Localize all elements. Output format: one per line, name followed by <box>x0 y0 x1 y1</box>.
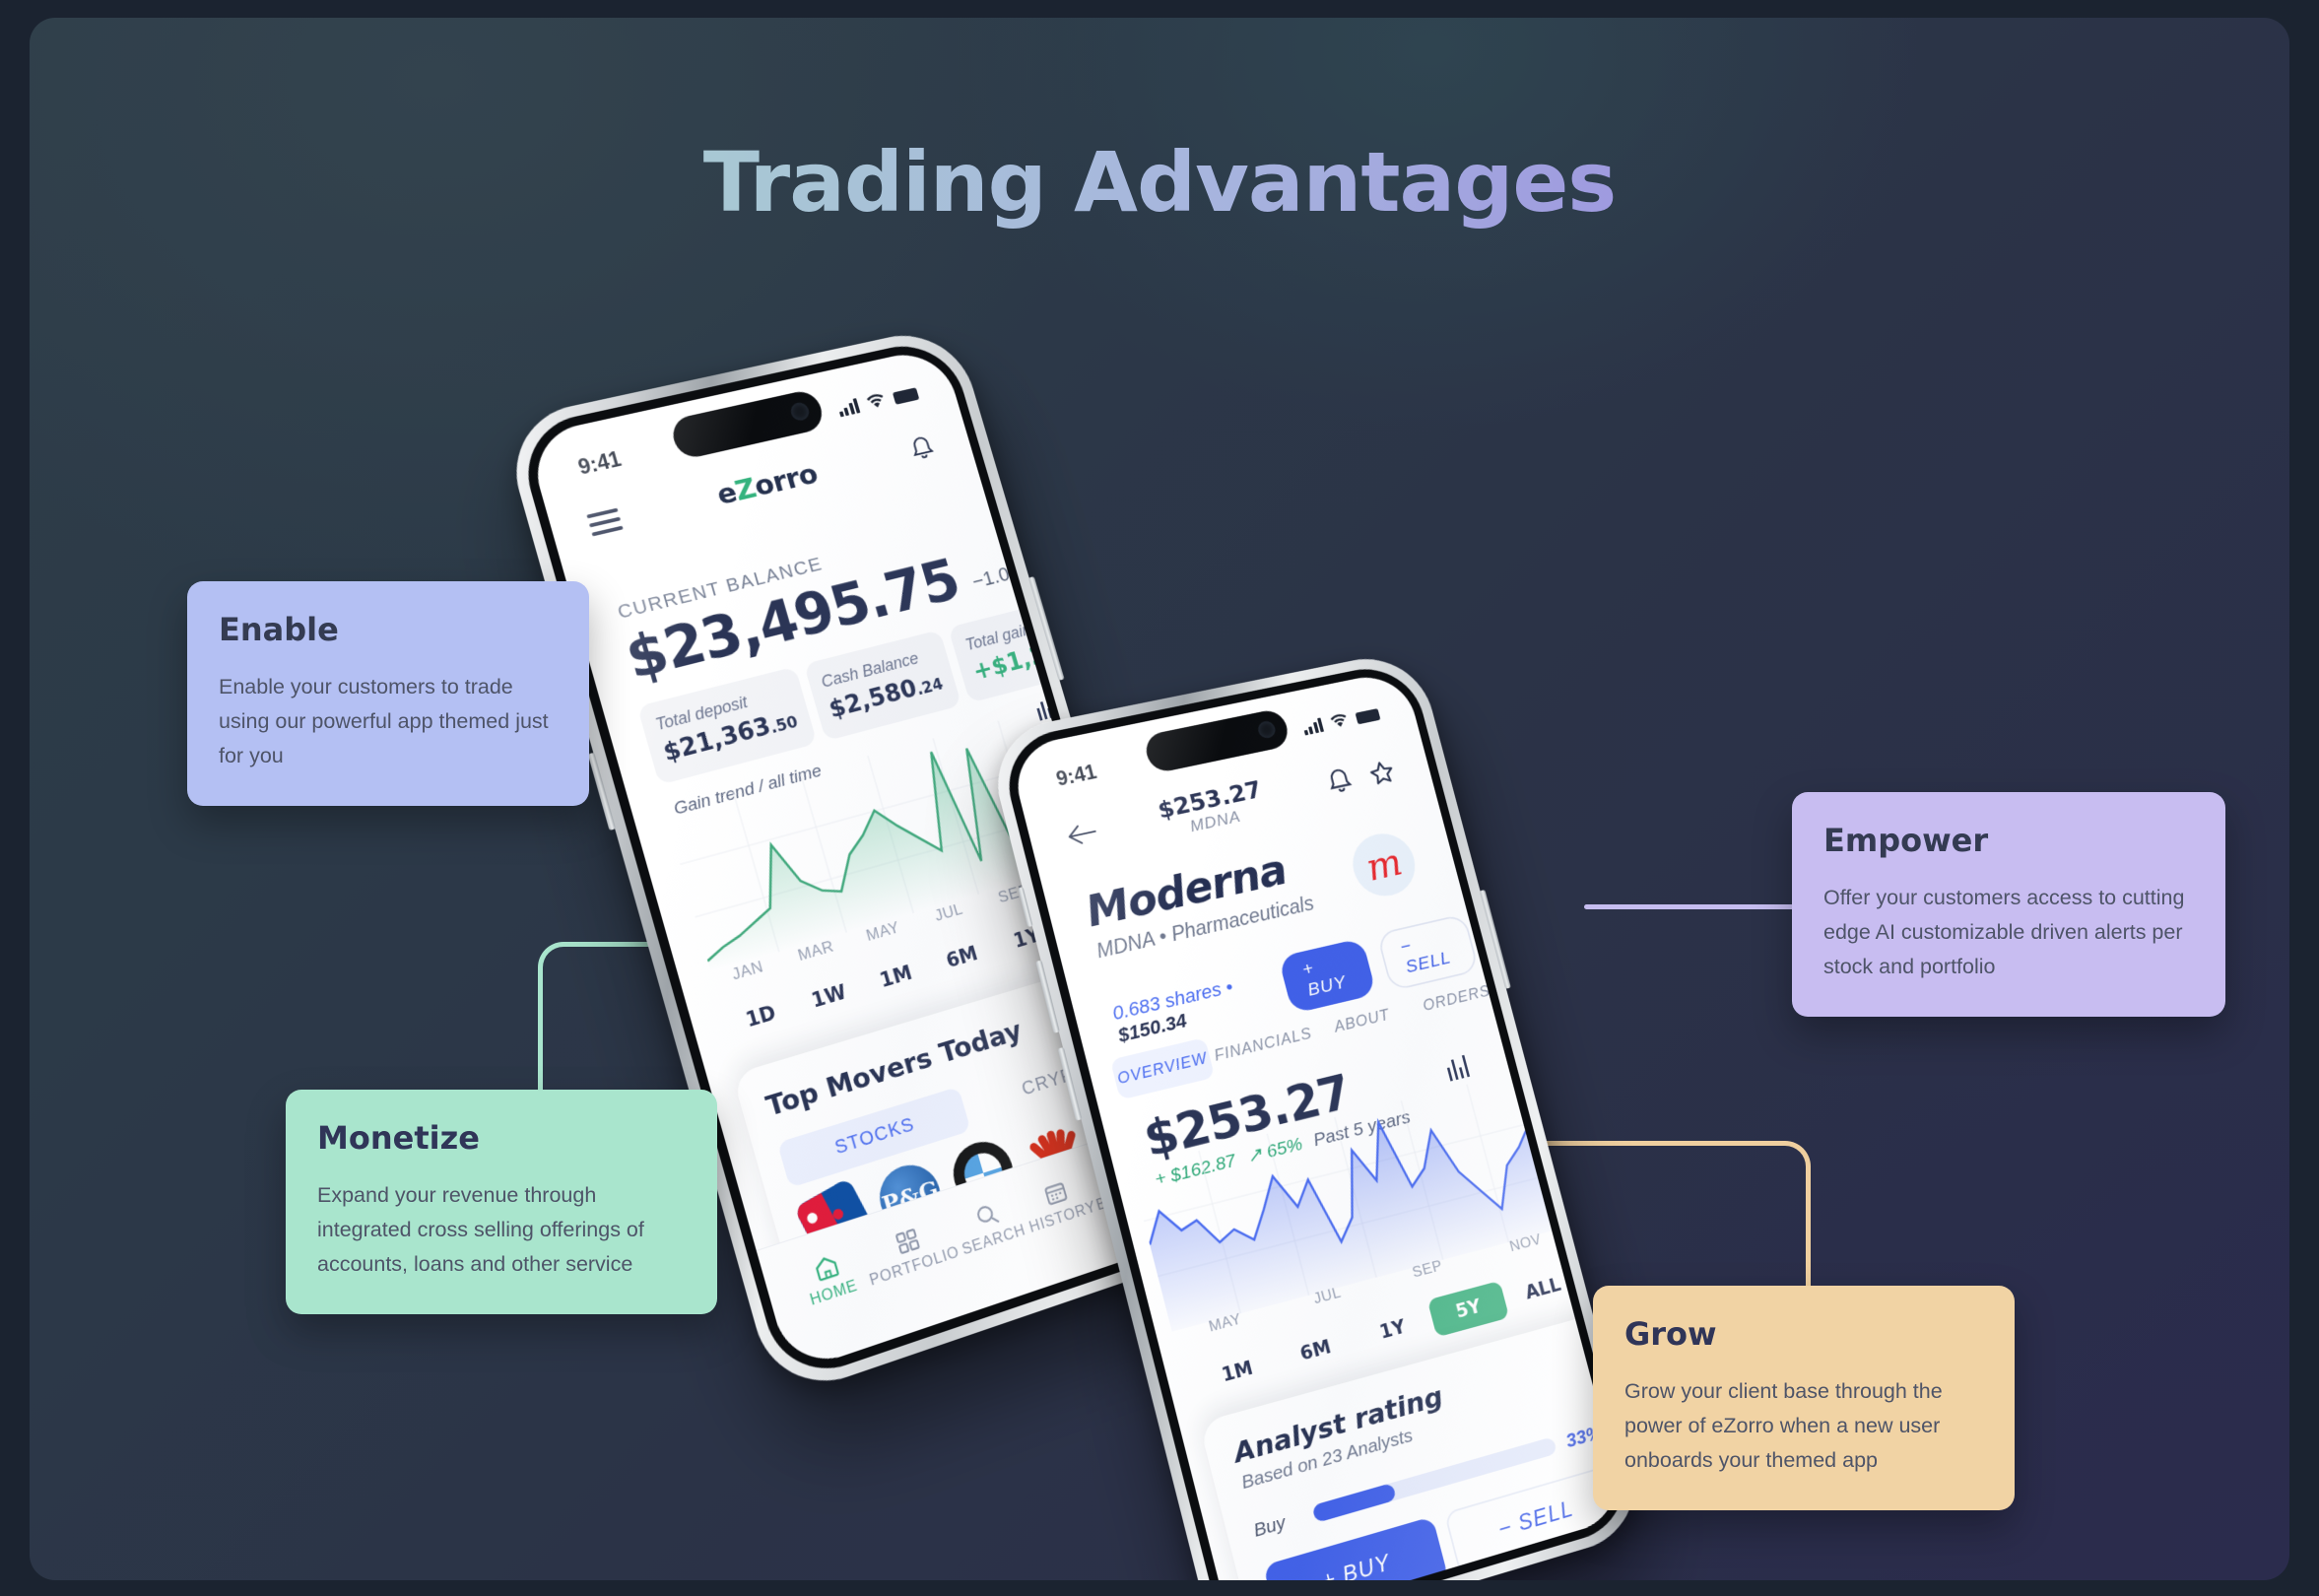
top-bar-actions <box>1322 756 1399 800</box>
feature-card-body: Offer your customers access to cutting e… <box>1823 881 2194 983</box>
analyst-row-label: Buy <box>1251 1507 1304 1542</box>
moderna-logo-glyph: m <box>1361 840 1406 890</box>
cellular-bars-icon <box>836 398 861 417</box>
feature-card-body: Grow your client base through the power … <box>1624 1374 1983 1477</box>
battery-icon <box>893 387 919 404</box>
arrow-left-icon[interactable] <box>1063 819 1099 855</box>
feature-card-title: Enable <box>219 611 558 648</box>
wifi-icon <box>1328 711 1352 730</box>
trend-down-arrow-icon: ↘ <box>1036 551 1058 576</box>
tab-portfolio[interactable]: PORTFOLIO <box>858 1210 962 1291</box>
moderna-logo-icon: m <box>1346 828 1422 901</box>
feature-card-title: Grow <box>1624 1315 1983 1353</box>
feature-card-empower[interactable]: Empower Offer your customers access to c… <box>1792 792 2225 1017</box>
tab-search[interactable]: SEARCH <box>947 1187 1031 1261</box>
status-time: 9:41 <box>1054 760 1099 790</box>
balance-change-value: −1.05% <box>969 556 1038 593</box>
feature-card-title: Monetize <box>317 1119 686 1157</box>
feature-card-monetize[interactable]: Monetize Expand your revenue through int… <box>286 1090 717 1314</box>
battery-icon <box>1356 708 1381 724</box>
tab-home[interactable]: HOME <box>785 1238 872 1314</box>
phone-mockup-stock-detail: 9:41 <box>984 648 1650 1580</box>
feature-card-body: Enable your customers to trade using our… <box>219 670 558 772</box>
feature-card-title: Empower <box>1823 822 2194 859</box>
bar-chart-icon[interactable] <box>1445 1055 1470 1082</box>
wifi-icon <box>864 391 889 411</box>
poster-canvas: Trading Advantages 9:41 <box>30 18 2289 1580</box>
star-outline-icon[interactable] <box>1364 756 1400 791</box>
phone-frame: 9:41 <box>984 648 1650 1580</box>
top-bar-ticker: $253.27 MDNA <box>1155 776 1269 842</box>
status-indicators <box>835 384 919 418</box>
hamburger-menu-icon[interactable] <box>585 502 626 542</box>
feature-card-body: Expand your revenue through integrated c… <box>317 1178 686 1281</box>
tab-history[interactable]: HISTORY <box>1017 1164 1099 1237</box>
page-title: Trading Advantages <box>30 134 2289 231</box>
feature-card-enable[interactable]: Enable Enable your customers to trade us… <box>187 581 589 806</box>
screenshot-root: Trading Advantages 9:41 <box>0 0 2319 1596</box>
bell-icon[interactable] <box>1322 765 1358 800</box>
feature-card-grow[interactable]: Grow Grow your client base through the p… <box>1593 1286 2015 1510</box>
connector-empower <box>1584 904 1795 909</box>
analyst-bar-fill <box>1311 1483 1397 1523</box>
app-logo: eZorro <box>713 457 822 511</box>
status-indicators <box>1301 705 1381 736</box>
stock-identity: Moderna MDNA • Pharmaceuticals <box>1081 841 1316 964</box>
cellular-bars-icon <box>1301 717 1324 735</box>
bell-icon[interactable] <box>905 432 939 466</box>
status-time: 9:41 <box>575 446 624 480</box>
